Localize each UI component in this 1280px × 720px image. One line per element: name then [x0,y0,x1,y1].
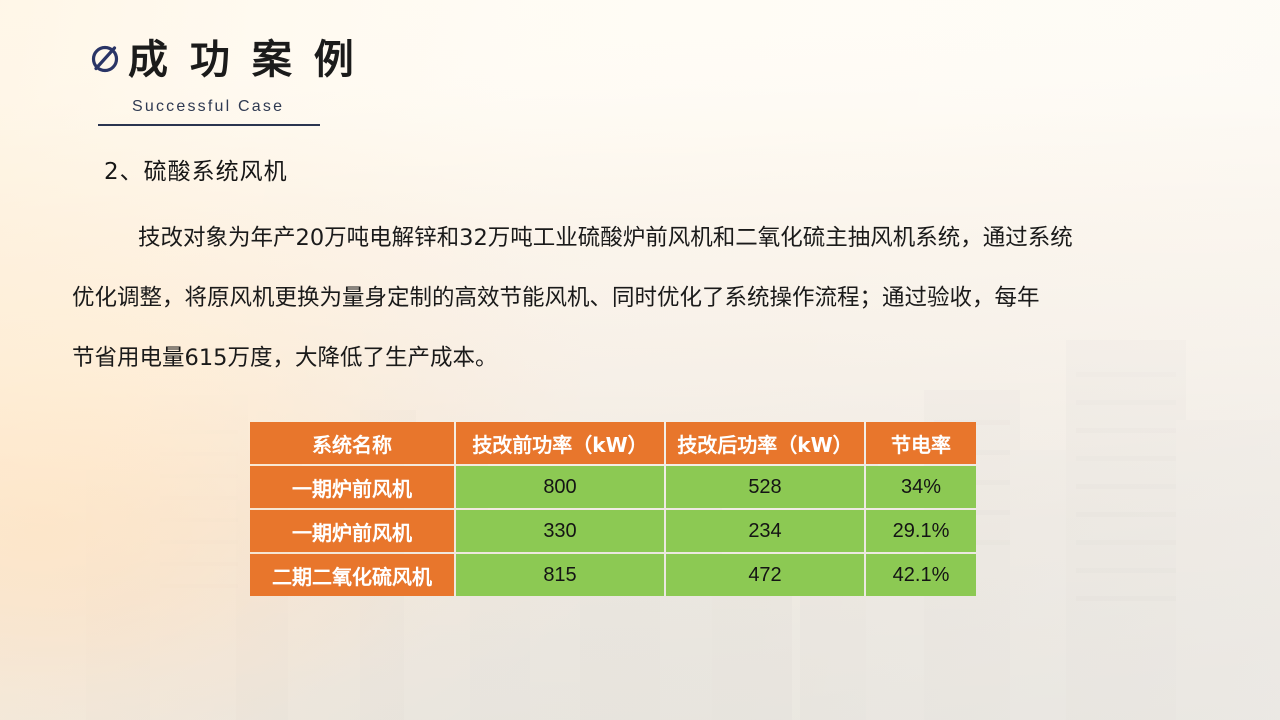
title-row: 成 功 案 例 [88,34,508,86]
table-row: 二期二氧化硫风机 815 472 42.1% [250,554,976,596]
cell-saving-rate: 34% [866,466,976,508]
page-title: 成 功 案 例 [128,40,358,80]
cell-power-after: 234 [666,510,864,552]
cell-power-after: 472 [666,554,864,596]
table-header-power-before: 技改前功率（kW） [456,422,664,464]
cell-power-before: 815 [456,554,664,596]
title-block: 成 功 案 例 Successful Case [88,34,508,126]
table-header-system-name: 系统名称 [250,422,454,464]
cell-system-name: 一期炉前风机 [250,466,454,508]
cell-power-after: 528 [666,466,864,508]
body-paragraph: 技改对象为年产20万吨电解锌和32万吨工业硫酸炉前风机和二氧化硫主抽风机系统，通… [72,208,1248,388]
table-header-saving-rate: 节电率 [866,422,976,464]
slide-canvas: 成 功 案 例 Successful Case 2、硫酸系统风机 技改对象为年产… [0,0,1280,720]
title-divider [98,124,320,126]
page-subtitle: Successful Case [132,98,508,116]
cell-power-before: 330 [456,510,664,552]
table-row: 一期炉前风机 800 528 34% [250,466,976,508]
table-header-power-after: 技改后功率（kW） [666,422,864,464]
null-slash-circle-icon [88,41,122,75]
table-body: 一期炉前风机 800 528 34% 一期炉前风机 330 234 29.1% … [250,466,976,596]
paragraph-line-1: 技改对象为年产20万吨电解锌和32万吨工业硫酸炉前风机和二氧化硫主抽风机系统，通… [72,208,1248,268]
section-heading: 2、硫酸系统风机 [104,152,288,186]
paragraph-line-2: 优化调整，将原风机更换为量身定制的高效节能风机、同时优化了系统操作流程；通过验收… [72,268,1248,328]
table-header-row: 系统名称 技改前功率（kW） 技改后功率（kW） 节电率 [250,422,976,464]
cell-saving-rate: 42.1% [866,554,976,596]
table-header: 系统名称 技改前功率（kW） 技改后功率（kW） 节电率 [250,422,976,464]
table-row: 一期炉前风机 330 234 29.1% [250,510,976,552]
cell-saving-rate: 29.1% [866,510,976,552]
slide-content: 成 功 案 例 Successful Case 2、硫酸系统风机 技改对象为年产… [0,0,1280,720]
results-table: 系统名称 技改前功率（kW） 技改后功率（kW） 节电率 一期炉前风机 800 … [248,420,978,598]
cell-power-before: 800 [456,466,664,508]
paragraph-line-3: 节省用电量615万度，大降低了生产成本。 [72,328,1248,388]
cell-system-name: 二期二氧化硫风机 [250,554,454,596]
cell-system-name: 一期炉前风机 [250,510,454,552]
